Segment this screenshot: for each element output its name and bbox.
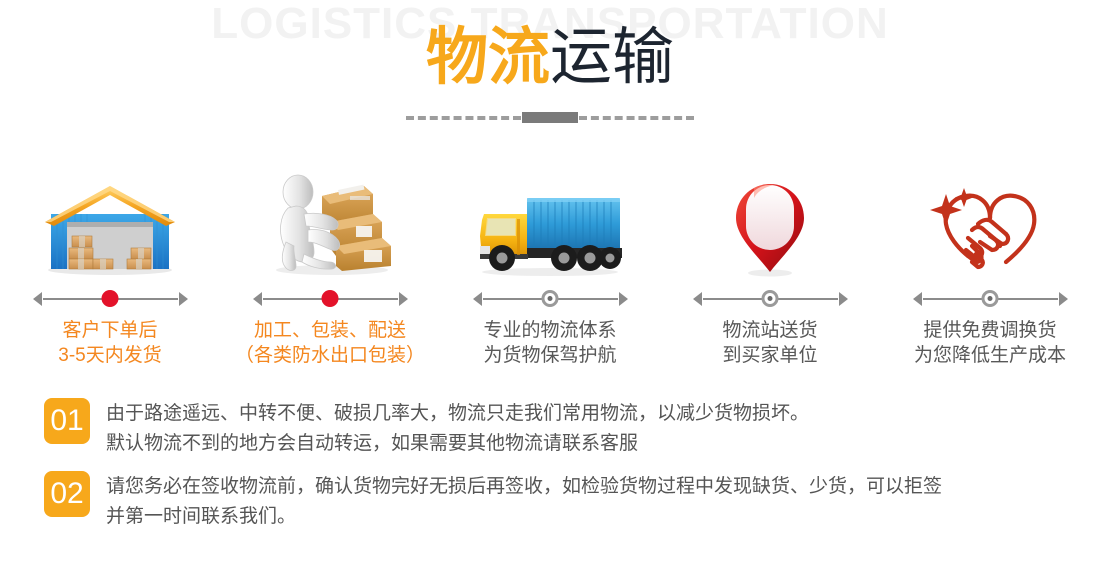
note-text: 请您务必在签收物流前，确认货物完好无损后再签收，如检验货物过程中发现缺货、少货，… [106, 471, 942, 532]
arrow-right-icon [179, 292, 188, 306]
feature-label: 提供免费调换货 为您降低生产成本 [914, 318, 1066, 368]
notes-section: 01 由于路途遥远、中转不便、破损几率大，物流只走我们常用物流，以减少货物损坏。… [44, 398, 1064, 544]
note-line: 并第一时间联系我们。 [106, 502, 942, 532]
feature-label: 加工、包装、配送 （各类防水出口包装） [235, 318, 425, 368]
note-number-badge: 01 [44, 398, 90, 444]
feature-label-line2: 为货物保驾护航 [483, 343, 616, 368]
note-line: 请您务必在签收物流前，确认货物完好无损后再签收，如检验货物过程中发现缺货、少货，… [106, 472, 942, 502]
feature-label: 专业的物流体系 为货物保驾护航 [483, 318, 616, 368]
worker-pushing-boxes-icon [260, 170, 400, 278]
note-text: 由于路途遥远、中转不便、破损几率大，物流只走我们常用物流，以减少货物损坏。 默认… [106, 398, 809, 459]
arrow-left-icon [913, 292, 922, 306]
feature-label-line2: （各类防水出口包装） [235, 343, 425, 368]
arrow-left-icon [693, 292, 702, 306]
note-item: 02 请您务必在签收物流前，确认货物完好无损后再签收，如检验货物过程中发现缺货、… [44, 471, 1064, 532]
connector-dot [982, 290, 999, 307]
warehouse-icon [35, 170, 185, 278]
page-title-orange: 物流 [426, 23, 550, 92]
note-line: 由于路途遥远、中转不便、破损几率大，物流只走我们常用物流，以减少货物损坏。 [106, 399, 809, 429]
feature-row: 客户下单后 3-5天内发货 [0, 170, 1100, 385]
feature-connector [473, 288, 628, 310]
arrow-left-icon [33, 292, 42, 306]
connector-dot [762, 290, 779, 307]
note-item: 01 由于路途遥远、中转不便、破损几率大，物流只走我们常用物流，以减少货物损坏。… [44, 398, 1064, 459]
arrow-right-icon [1059, 292, 1068, 306]
feature-item: 加工、包装、配送 （各类防水出口包装） [220, 170, 440, 385]
page-title: 物流运输 [0, 22, 1100, 94]
feature-item: 提供免费调换货 为您降低生产成本 [880, 170, 1100, 385]
note-line: 默认物流不到的地方会自动转运，如果需要其他物流请联系客服 [106, 429, 809, 459]
feature-item: 客户下单后 3-5天内发货 [0, 170, 220, 385]
feature-label-line1: 专业的物流体系 [483, 318, 616, 343]
divider-block [522, 112, 578, 123]
feature-label-line1: 客户下单后 [58, 318, 161, 343]
feature-label-line1: 物流站送货 [722, 318, 817, 343]
feature-label-line2: 3-5天内发货 [58, 343, 161, 368]
connector-dot [542, 290, 559, 307]
feature-connector [33, 288, 188, 310]
feature-connector [253, 288, 408, 310]
feature-connector [913, 288, 1068, 310]
map-pin-icon [724, 170, 816, 278]
arrow-right-icon [619, 292, 628, 306]
arrow-right-icon [839, 292, 848, 306]
feature-label-line2: 为您降低生产成本 [914, 343, 1066, 368]
connector-dot [102, 290, 119, 307]
connector-dot [322, 290, 339, 307]
feature-item: 专业的物流体系 为货物保驾护航 [440, 170, 660, 385]
divider-dash-left [406, 116, 521, 120]
page-title-dark: 运输 [550, 23, 674, 92]
feature-label: 客户下单后 3-5天内发货 [58, 318, 161, 368]
page-header: LOGISTICS TRANSPORTATION 物流运输 [0, 0, 1100, 140]
container-truck-icon [470, 170, 630, 278]
feature-connector [693, 288, 848, 310]
feature-item: 物流站送货 到买家单位 [660, 170, 880, 385]
feature-label-line1: 加工、包装、配送 [235, 318, 425, 343]
handshake-heart-icon [920, 170, 1060, 278]
arrow-left-icon [253, 292, 262, 306]
arrow-left-icon [473, 292, 482, 306]
arrow-right-icon [399, 292, 408, 306]
note-number-badge: 02 [44, 471, 90, 517]
feature-label-line1: 提供免费调换货 [914, 318, 1066, 343]
feature-label: 物流站送货 到买家单位 [722, 318, 817, 368]
divider-dash-right [579, 116, 694, 120]
feature-label-line2: 到买家单位 [722, 343, 817, 368]
title-divider [0, 112, 1100, 123]
